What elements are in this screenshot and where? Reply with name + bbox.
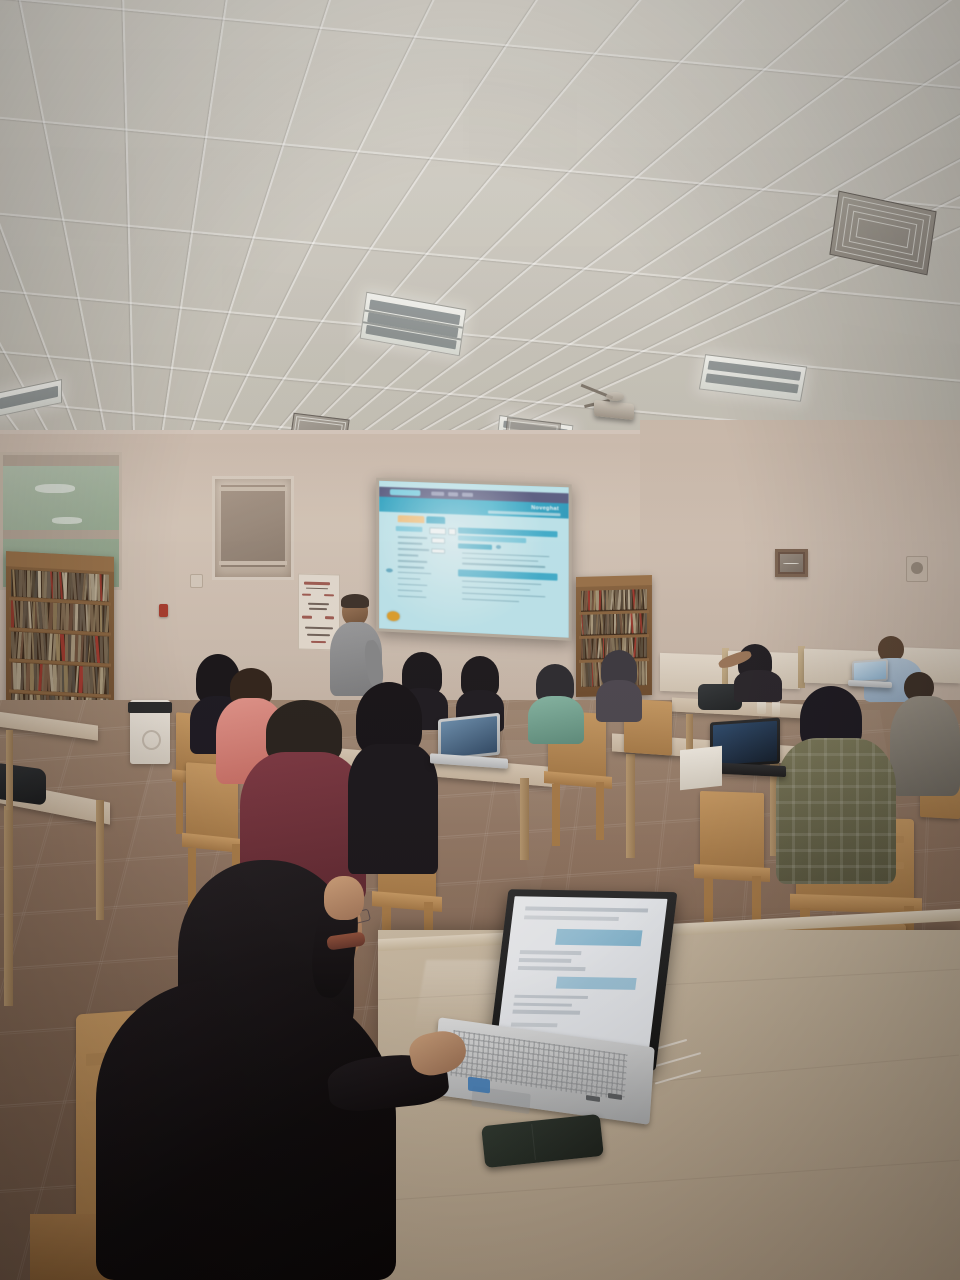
table-leg (626, 754, 635, 858)
wall-socket (190, 574, 203, 588)
student-back-right (890, 672, 960, 792)
student-plaid-jacket (776, 686, 896, 876)
carrel-panel-white (680, 746, 722, 790)
student-grey-hijab (596, 650, 642, 716)
laptop-sticker (468, 1076, 490, 1093)
chair-leg (596, 782, 604, 840)
framed-picture (775, 549, 808, 577)
chair (700, 791, 764, 869)
laptop-carrel (848, 660, 892, 688)
student-foreground-chador (96, 860, 436, 1280)
student-black-hijab-2 (348, 682, 438, 852)
chair-leg (552, 784, 560, 846)
torso (776, 738, 896, 884)
table-leg (4, 806, 13, 1006)
hand-at-face (324, 876, 364, 920)
chair-leg (176, 782, 183, 834)
student-teal-hijab (528, 664, 584, 738)
slide-inactive-tab (426, 516, 445, 524)
slide-organization-logo (387, 611, 400, 621)
laptop-midrow (430, 716, 508, 768)
wall-device (906, 556, 928, 582)
presenter (326, 596, 386, 696)
table-leg (520, 778, 529, 860)
torso (528, 696, 584, 744)
laptop-foreground (436, 890, 666, 1120)
presenter-hair (341, 594, 369, 608)
wall-cabinet (212, 476, 294, 580)
projected-slide: Noveghat (379, 481, 569, 638)
torso (96, 980, 396, 1280)
library-lecture-photo: Noveghat (0, 0, 960, 1280)
reader-carrel (724, 644, 780, 700)
torso (596, 680, 642, 722)
slide-sidebar-icon (386, 568, 393, 573)
fire-alarm-icon (159, 604, 168, 617)
slide-active-tab (398, 515, 424, 523)
torso (348, 744, 438, 874)
slide-brand-text: Noveghat (531, 505, 559, 512)
table-leg (6, 730, 13, 810)
torso (734, 670, 782, 702)
projection-screen: Noveghat (376, 478, 572, 641)
ceiling-projector (578, 388, 644, 428)
torso (890, 696, 960, 796)
trash-bin (130, 700, 170, 764)
